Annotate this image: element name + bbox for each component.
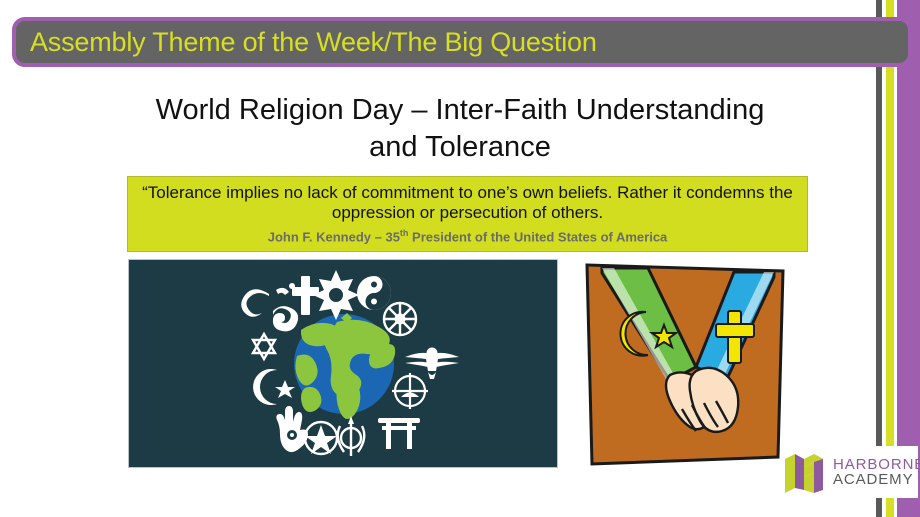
world-religions-image: [128, 259, 558, 468]
decor-stripe-purple: [897, 0, 920, 517]
decor-stripe-lime: [886, 0, 894, 517]
quote-attribution: John F. Kennedy – 35th President of the …: [142, 229, 793, 245]
logo-line-harborne: HARBORNE: [833, 457, 920, 472]
yin-yang-icon: [357, 276, 391, 310]
quote-box: “Tolerance implies no lack of commitment…: [127, 176, 808, 252]
page-title: World Religion Day – Inter-Faith Underst…: [80, 92, 840, 166]
quote-attribution-name: John F. Kennedy – 35: [268, 229, 400, 244]
header-banner: Assembly Theme of the Week/The Big Quest…: [12, 17, 912, 67]
logo-wordmark: HARBORNE ACADEMY: [833, 457, 920, 488]
header-title: Assembly Theme of the Week/The Big Quest…: [30, 29, 597, 56]
dharma-wheel-icon: [384, 303, 416, 335]
page-title-line-2: and Tolerance: [80, 129, 840, 166]
slide-canvas: Assembly Theme of the Week/The Big Quest…: [0, 0, 920, 517]
quote-attribution-role: President of the United States of Americ…: [408, 229, 667, 244]
school-logo: HARBORNE ACADEMY: [782, 446, 918, 498]
decor-stripe-gray: [876, 0, 882, 517]
page-title-line-1: World Religion Day – Inter-Faith Underst…: [80, 92, 840, 129]
interfaith-hands-artwork: [578, 259, 793, 471]
logo-line-academy: ACADEMY: [833, 472, 920, 487]
interfaith-hands-image: [578, 259, 793, 471]
harborne-h-logo-icon: [782, 450, 826, 494]
world-religions-artwork: [129, 260, 558, 468]
quote-text: “Tolerance implies no lack of commitment…: [142, 183, 793, 224]
